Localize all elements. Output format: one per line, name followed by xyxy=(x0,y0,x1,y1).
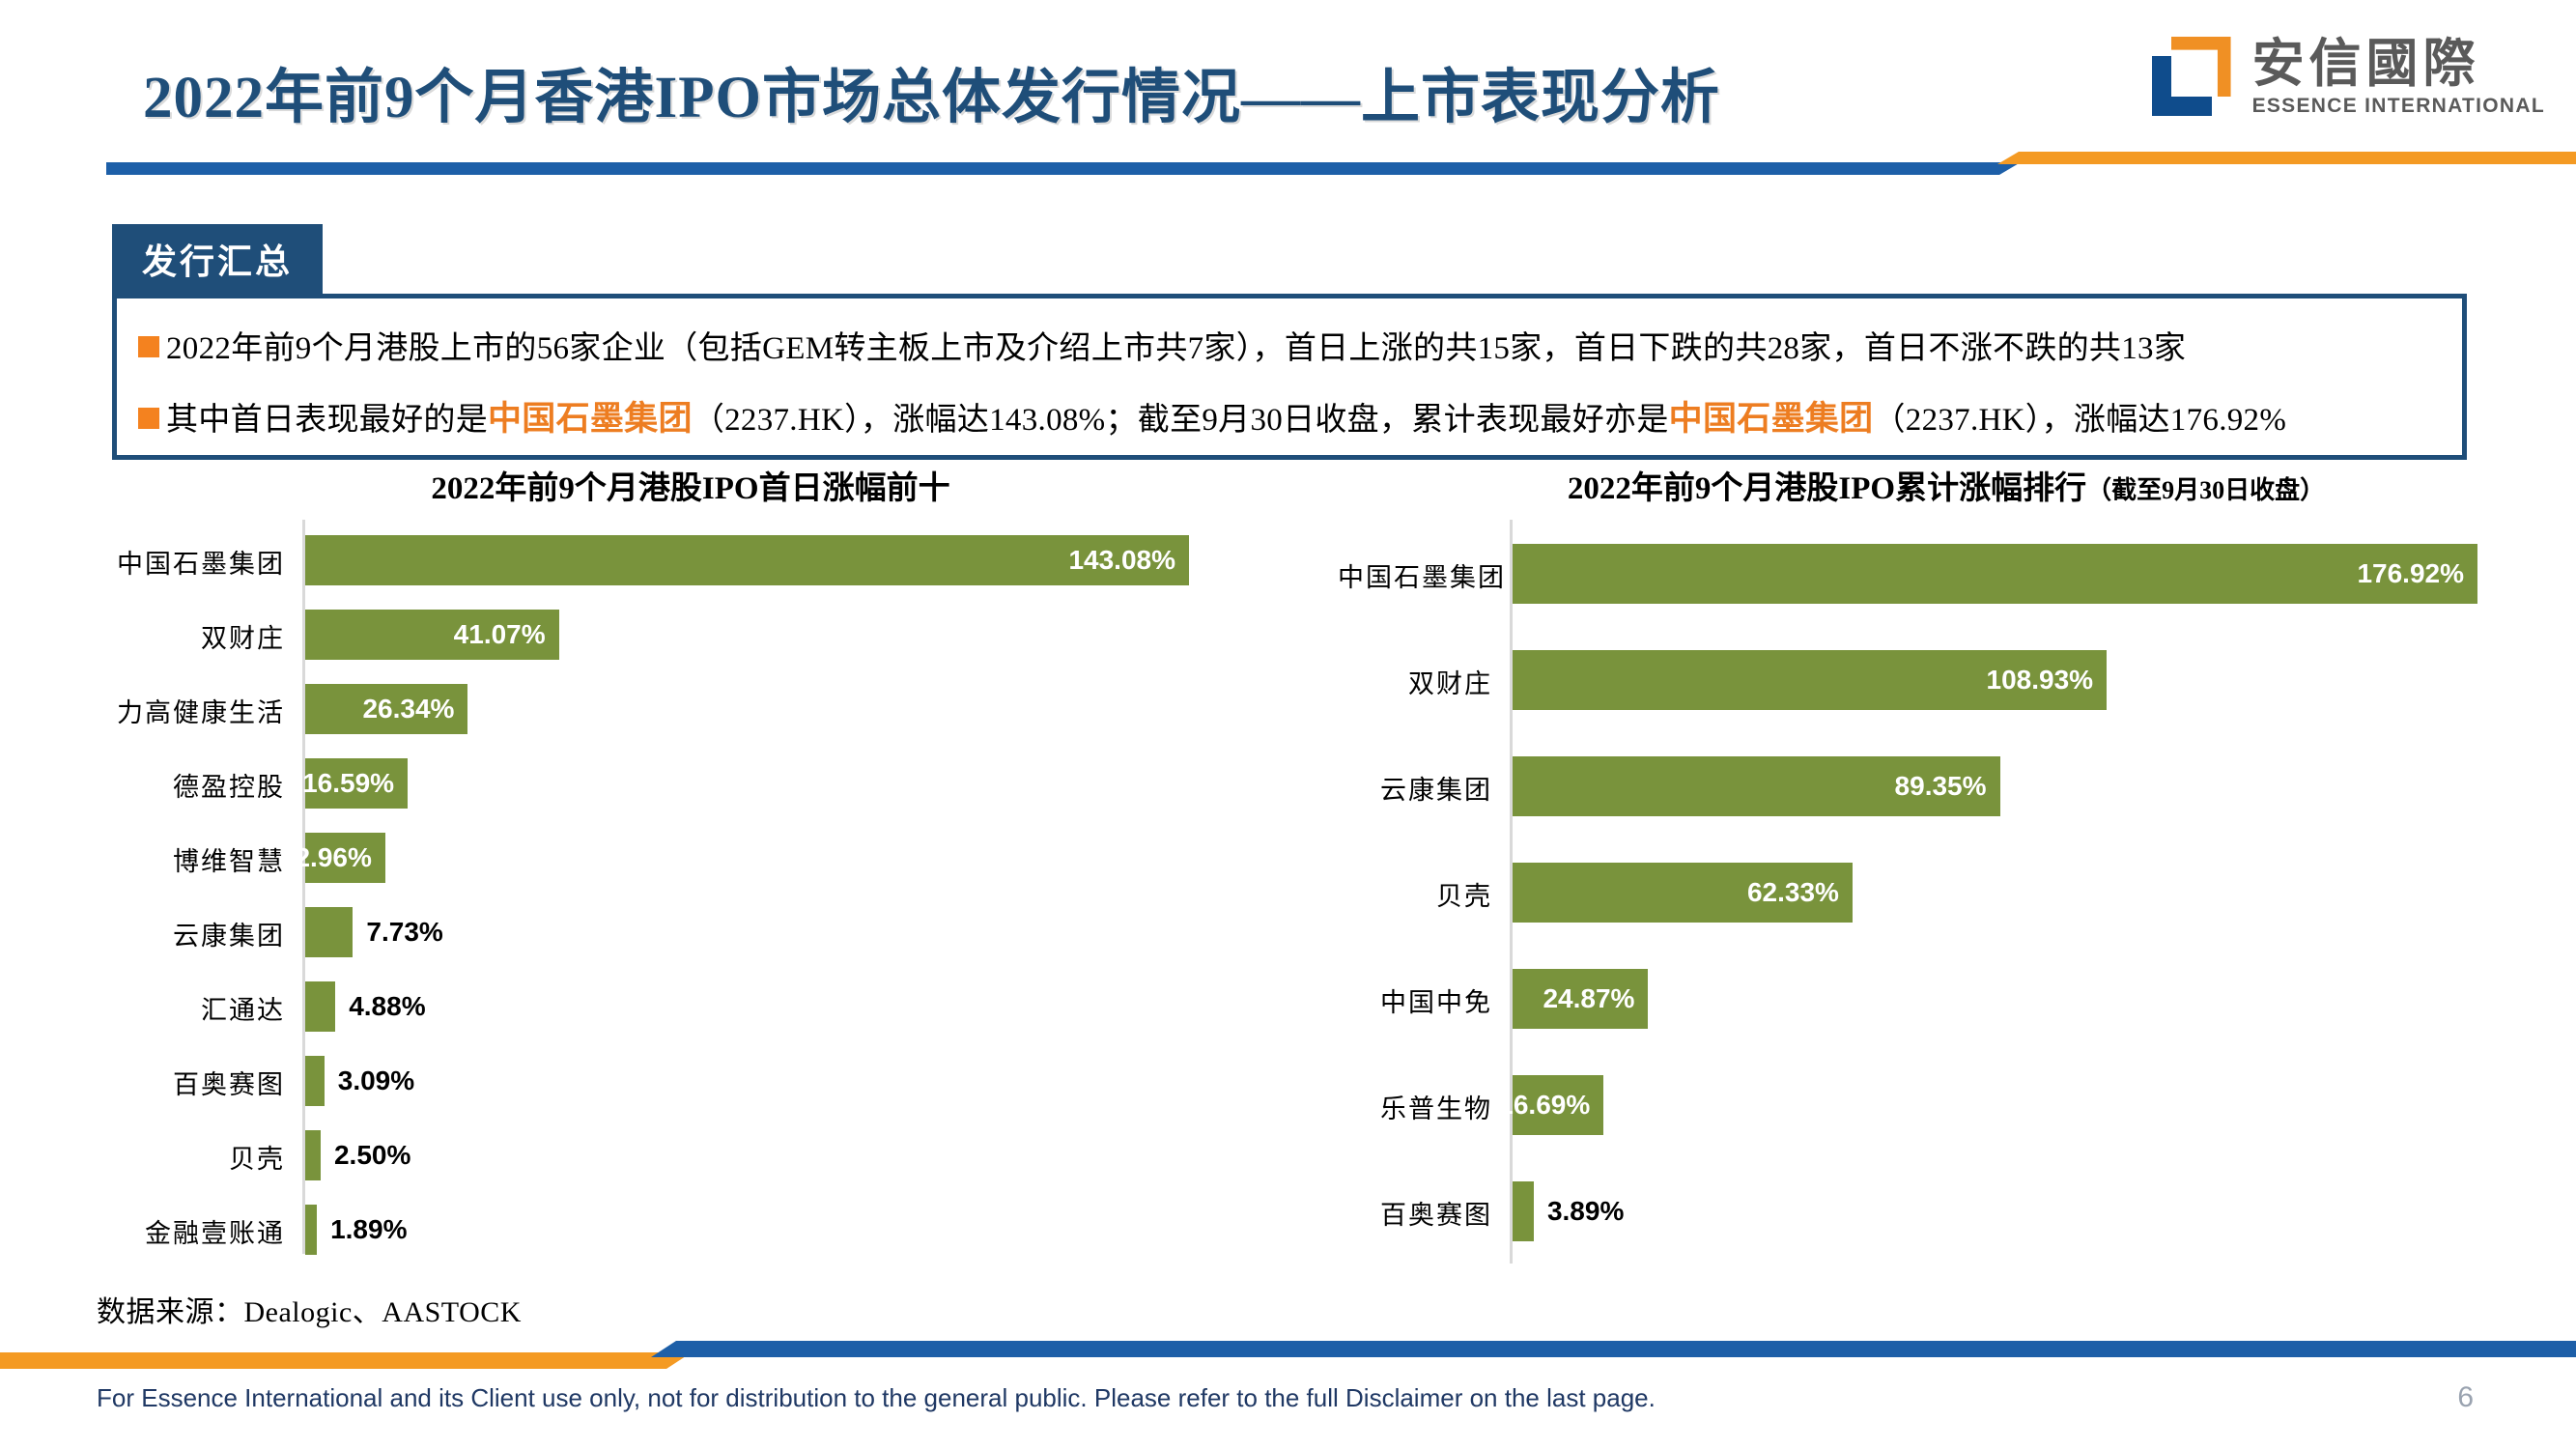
chart-category-label: 金融壹账通 xyxy=(92,1212,285,1250)
chart-category-label: 双财庄 xyxy=(92,617,285,655)
summary-tab-label: 发行汇总 xyxy=(142,234,293,284)
chart-category-label: 云康集团 xyxy=(1338,769,1492,807)
chart-category-label: 乐普生物 xyxy=(1338,1088,1492,1125)
summary-highlight-company-first-day: 中国石墨集团 xyxy=(488,391,693,440)
chart-bar: 16.69% xyxy=(1513,1075,1603,1135)
chart-category-label: 百奥赛图 xyxy=(92,1064,285,1101)
page-title: 2022年前9个月香港IPO市场总体发行情况——上市表现分析 xyxy=(143,48,1720,134)
chart-plot-area: 中国石墨集团143.08%双财庄41.07%力高健康生活26.34%德盈控股16… xyxy=(97,520,1285,1254)
chart-category-label: 德盈控股 xyxy=(92,766,285,804)
header-rule-orange xyxy=(2019,152,2576,164)
chart-title-text: 2022年前9个月港股IPO累计涨幅排行 xyxy=(1568,471,2086,506)
chart-category-label: 百奥赛图 xyxy=(1338,1194,1492,1232)
chart-cumulative-gain-ranking: 2022年前9个月港股IPO累计涨幅排行（截至9月30日收盘） 中国石墨集团17… xyxy=(1343,462,2550,1264)
chart-bar: 176.92% xyxy=(1513,544,2477,604)
footer-rule-orange xyxy=(0,1352,666,1369)
chart-category-label: 中国石墨集团 xyxy=(1338,556,1492,594)
header-rule-blue xyxy=(106,162,1999,175)
chart-bar: 4.88% xyxy=(305,981,335,1032)
chart-bar: 3.09% xyxy=(305,1056,325,1106)
chart-plot-area: 中国石墨集团176.92%双财庄108.93%云康集团89.35%贝壳62.33… xyxy=(1343,520,2550,1264)
chart-bar: 62.33% xyxy=(1513,863,1853,923)
chart-bar: 89.35% xyxy=(1513,756,2000,816)
chart-bar-value-label: 108.93% xyxy=(1987,665,2108,696)
bullet-square-icon xyxy=(138,408,159,429)
chart-bar-value-label: 16.69% xyxy=(1498,1090,1603,1121)
chart-bar-value-label: 41.07% xyxy=(454,619,559,650)
chart-category-label: 博维智慧 xyxy=(92,840,285,878)
chart-category-label: 中国石墨集团 xyxy=(92,543,285,581)
footer-disclaimer: For Essence International and its Client… xyxy=(97,1383,1656,1413)
summary-tab: 发行汇总 xyxy=(112,224,323,294)
chart-bar: 7.73% xyxy=(305,907,353,957)
chart-bar-value-label: 4.88% xyxy=(335,991,425,1022)
slide-header: 2022年前9个月香港IPO市场总体发行情况——上市表现分析 安信國際 ESSE… xyxy=(0,0,2576,184)
chart-title: 2022年前9个月港股IPO首日涨幅前十 xyxy=(97,462,1285,508)
chart-title-note: （截至9月30日收盘） xyxy=(2086,476,2325,504)
chart-bar-value-label: 1.89% xyxy=(317,1214,407,1245)
page-number: 6 xyxy=(2457,1381,2474,1414)
source-note: 数据来源：Dealogic、AASTOCK xyxy=(97,1288,522,1330)
logo-cube-inner xyxy=(2171,56,2212,97)
chart-bar: 2.50% xyxy=(305,1130,321,1180)
chart-bar-value-label: 2.50% xyxy=(321,1140,410,1171)
chart-title-text: 2022年前9个月港股IPO首日涨幅前十 xyxy=(431,471,949,506)
chart-bar: 3.89% xyxy=(1513,1181,1534,1241)
chart-category-label: 双财庄 xyxy=(1338,663,1492,700)
chart-bar: 1.89% xyxy=(305,1205,317,1255)
summary-bullet-text-part2: （2237.HK），涨幅达143.08%；截至9月30日收盘，累计表现最好亦是 xyxy=(693,393,1669,440)
logo-name-en: ESSENCE INTERNATIONAL xyxy=(2252,96,2545,116)
chart-bar-value-label: 3.89% xyxy=(1534,1196,1624,1227)
chart-category-label: 中国中免 xyxy=(1338,981,1492,1019)
chart-title: 2022年前9个月港股IPO累计涨幅排行（截至9月30日收盘） xyxy=(1343,462,2550,508)
chart-bar: 26.34% xyxy=(305,684,467,734)
chart-bar: 24.87% xyxy=(1513,969,1648,1029)
logo-text: 安信國際 ESSENCE INTERNATIONAL xyxy=(2252,38,2545,116)
chart-category-label: 云康集团 xyxy=(92,915,285,952)
chart-bar-value-label: 143.08% xyxy=(1068,545,1189,576)
chart-bar-value-label: 3.09% xyxy=(325,1065,414,1096)
chart-bar: 41.07% xyxy=(305,610,559,660)
bullet-square-icon xyxy=(138,336,159,357)
chart-bar-value-label: 12.96% xyxy=(280,842,385,873)
brand-logo: 安信國際 ESSENCE INTERNATIONAL xyxy=(2152,37,2545,116)
footer-rule-blue xyxy=(676,1341,2576,1357)
chart-bar-value-label: 24.87% xyxy=(1543,983,1648,1014)
chart-bar-value-label: 16.59% xyxy=(302,768,408,799)
logo-name-cn: 安信國際 xyxy=(2252,38,2480,90)
chart-bar: 143.08% xyxy=(305,535,1189,585)
chart-category-label: 汇通达 xyxy=(92,989,285,1027)
chart-category-label: 力高健康生活 xyxy=(92,692,285,729)
chart-category-label: 贝壳 xyxy=(1338,875,1492,913)
chart-bar: 108.93% xyxy=(1513,650,2107,710)
summary-highlight-company-cumulative: 中国石墨集团 xyxy=(1669,391,1874,440)
summary-bullet-text-part1: 其中首日表现最好的是 xyxy=(166,393,488,440)
chart-first-day-gain-top10: 2022年前9个月港股IPO首日涨幅前十 中国石墨集团143.08%双财庄41.… xyxy=(97,462,1285,1254)
summary-box: 2022年前9个月港股上市的56家企业（包括GEM转主板上市及介绍上市共7家），… xyxy=(112,294,2467,460)
chart-bar-value-label: 26.34% xyxy=(362,694,467,724)
chart-bar: 16.59% xyxy=(305,758,408,809)
summary-bullet-item: 其中首日表现最好的是 中国石墨集团 （2237.HK），涨幅达143.08%；截… xyxy=(138,391,2286,440)
summary-bullet-text-part3: （2237.HK），涨幅达176.92% xyxy=(1873,393,2286,440)
chart-bar-value-label: 89.35% xyxy=(1895,771,2000,802)
chart-bar-value-label: 62.33% xyxy=(1747,877,1853,908)
summary-bullet-text: 2022年前9个月港股上市的56家企业（包括GEM转主板上市及介绍上市共7家），… xyxy=(166,322,2186,368)
logo-cube-icon xyxy=(2152,37,2231,116)
chart-bar-value-label: 7.73% xyxy=(353,917,442,948)
chart-bar-value-label: 176.92% xyxy=(2357,558,2477,589)
chart-bar: 12.96% xyxy=(305,833,385,883)
summary-bullet-item: 2022年前9个月港股上市的56家企业（包括GEM转主板上市及介绍上市共7家），… xyxy=(138,322,2186,368)
chart-category-label: 贝壳 xyxy=(92,1138,285,1176)
